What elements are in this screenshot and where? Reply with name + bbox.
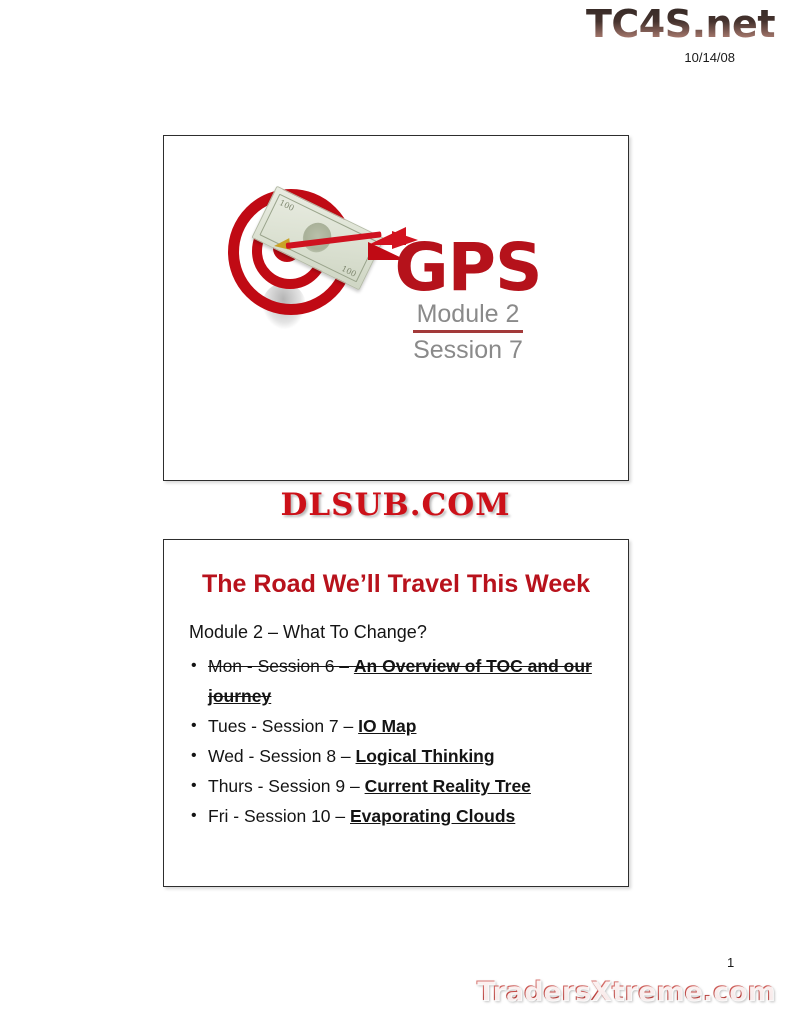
footer-brand-logo: TradersXtreme.com xyxy=(476,976,775,1007)
slide-lead-text: Module 2 – What To Change? xyxy=(189,622,612,643)
agenda-item: Fri - Session 10 – Evaporating Clouds xyxy=(189,801,612,831)
dlsub-watermark-text: DLSUB.COM xyxy=(280,487,510,523)
header-date: 10/14/08 xyxy=(477,50,777,65)
agenda-item-prefix: Tues - Session 7 – xyxy=(208,716,358,736)
agenda-item: Tues - Session 7 – IO Map xyxy=(189,711,612,741)
title-slide: 100 100 GPS Module 2 Session 7 xyxy=(163,135,629,481)
page-header: TC4S.net 10/14/08 xyxy=(477,0,777,65)
dlsub-watermark: DLSUB.COM xyxy=(0,487,791,523)
target-icon: 100 100 xyxy=(226,187,376,337)
agenda-item-topic: Current Reality Tree xyxy=(365,776,531,796)
agenda-item-prefix: Thurs - Session 9 – xyxy=(208,776,365,796)
dollar-bill-corner-top: 100 xyxy=(278,198,296,213)
agenda-item-topic: IO Map xyxy=(358,716,416,736)
agenda-item-topic: Evaporating Clouds xyxy=(350,806,515,826)
agenda-item-prefix: Fri - Session 10 – xyxy=(208,806,350,826)
agenda-item-topic: Logical Thinking xyxy=(356,746,495,766)
gps-logo: 100 100 GPS Module 2 Session 7 xyxy=(226,181,566,421)
dollar-bill-corner-bottom: 100 xyxy=(340,264,358,279)
site-brand-logo: TC4S.net xyxy=(477,0,777,48)
slide-title: The Road We’ll Travel This Week xyxy=(164,570,628,599)
gps-wordmark: GPS Module 2 Session 7 xyxy=(368,236,568,365)
agenda-item-prefix: Wed - Session 8 – xyxy=(208,746,356,766)
gps-session-label: Session 7 xyxy=(368,335,568,365)
agenda-item: Wed - Session 8 – Logical Thinking xyxy=(189,741,612,771)
agenda-item: Thurs - Session 9 – Current Reality Tree xyxy=(189,771,612,801)
gps-module-label: Module 2 xyxy=(413,300,524,333)
page-number: 1 xyxy=(727,955,734,970)
agenda-list: Mon - Session 6 – An Overview of TOC and… xyxy=(189,651,612,831)
content-slide: The Road We’ll Travel This Week Module 2… xyxy=(163,539,629,887)
agenda-item: Mon - Session 6 – An Overview of TOC and… xyxy=(189,651,612,711)
slide-body: Module 2 – What To Change? Mon - Session… xyxy=(189,622,612,831)
agenda-item-prefix: Mon - Session 6 – xyxy=(208,656,354,676)
gps-title: GPS xyxy=(368,236,568,300)
